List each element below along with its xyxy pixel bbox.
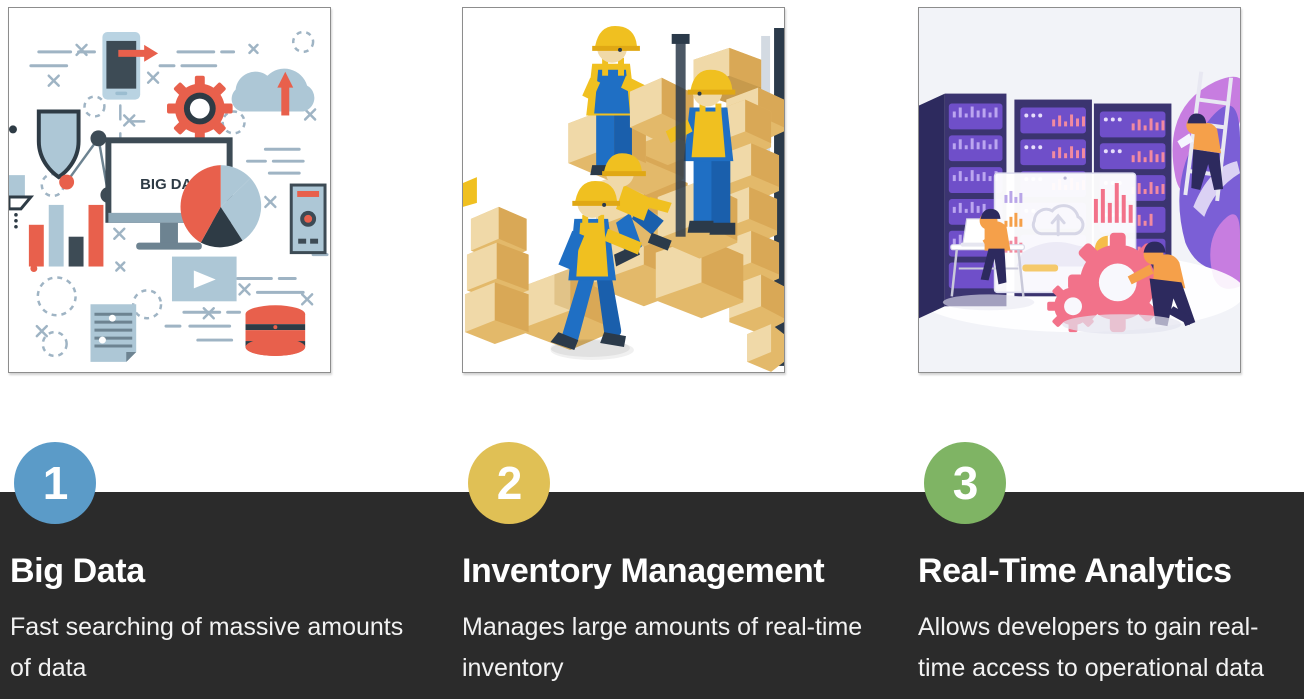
node-dot — [90, 130, 106, 146]
card-title-analytics: Real-Time Analytics — [918, 552, 1304, 591]
gear-icon — [167, 76, 233, 142]
data-center-analytics-illustration — [919, 8, 1240, 372]
card-text-analytics: Real-Time Analytics Allows developers to… — [918, 552, 1304, 689]
step-number-badge-2: 2 — [468, 442, 550, 524]
illustration-frame-inventory — [462, 7, 785, 373]
database-icon — [246, 305, 306, 356]
step-number-badge-1: 1 — [14, 442, 96, 524]
card-title-inventory: Inventory Management — [462, 552, 902, 591]
card-text-inventory: Inventory Management Manages large amoun… — [462, 552, 902, 689]
illustration-frame-analytics — [918, 7, 1241, 373]
step-number-2: 2 — [497, 457, 522, 509]
step-number-badge-3: 3 — [924, 442, 1006, 524]
warehouse-isometric-illustration — [463, 8, 784, 372]
big-data-infographic-illustration: BIG DATA — [9, 8, 330, 372]
card-description-analytics: Allows developers to gain real-time acce… — [918, 607, 1304, 689]
card-inventory-management: 2 Inventory Management Manages large amo… — [452, 0, 908, 699]
server-tower-icon — [291, 185, 325, 253]
step-number-3: 3 — [953, 457, 978, 509]
card-description-inventory: Manages large amounts of real-time inven… — [462, 607, 902, 689]
illustration-frame-big-data: BIG DATA — [8, 7, 331, 373]
node-dot — [59, 175, 74, 190]
floor-shadow — [1062, 314, 1181, 334]
smartphone-icon — [102, 32, 140, 100]
card-title-big-data: Big Data — [10, 552, 430, 591]
step-number-1: 1 — [43, 457, 68, 509]
card-description-big-data: Fast searching of massive amounts of dat… — [10, 607, 430, 689]
floor-shadow — [943, 294, 1034, 310]
card-real-time-analytics: 3 Real-Time Analytics Allows developers … — [908, 0, 1304, 699]
document-icon — [90, 304, 136, 362]
card-big-data: BIG DATA — [0, 0, 452, 699]
card-text-big-data: Big Data Fast searching of massive amoun… — [10, 552, 430, 689]
video-play-icon — [172, 257, 237, 302]
pie-chart-icon — [181, 165, 262, 247]
